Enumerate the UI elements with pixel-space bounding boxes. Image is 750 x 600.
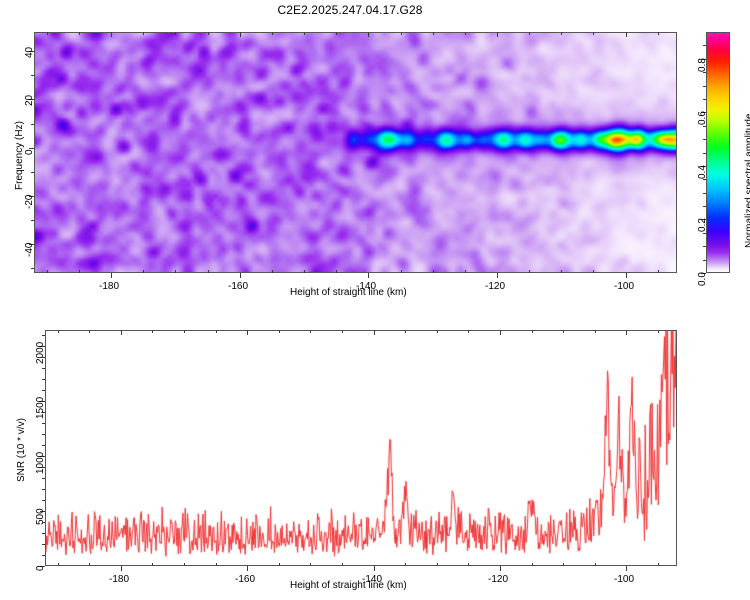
snr-x-tick-label: -180 <box>109 574 129 585</box>
axis-tick <box>31 124 34 125</box>
axis-tick <box>433 32 434 35</box>
axis-tick <box>626 32 627 37</box>
snr-canvas <box>46 331 676 565</box>
axis-tick <box>468 563 469 566</box>
axis-tick <box>703 260 706 261</box>
axis-tick <box>216 330 217 333</box>
snr-y-axis-label: SNR (10 * v/v) <box>16 418 27 482</box>
axis-tick <box>42 445 45 446</box>
snr-x-axis-label: Height of straight line (km) <box>290 580 407 591</box>
axis-tick <box>703 99 706 100</box>
axis-tick <box>42 555 45 556</box>
spectrogram-y-tick-label: 0 <box>24 149 35 155</box>
axis-tick <box>342 563 343 566</box>
axis-tick <box>208 32 209 35</box>
snr-x-tick-label: -120 <box>488 574 508 585</box>
axis-tick <box>529 270 530 273</box>
axis-tick <box>468 330 469 333</box>
axis-tick <box>42 357 45 358</box>
colorbar-gradient <box>707 33 729 272</box>
axis-tick <box>152 563 153 566</box>
axis-tick <box>595 563 596 566</box>
snr-plot-area <box>45 330 677 566</box>
axis-tick <box>121 566 122 571</box>
axis-tick <box>184 563 185 566</box>
spectrogram-x-axis-label: Height of straight line (km) <box>290 287 407 298</box>
axis-tick <box>42 412 45 413</box>
snr-y-tick-label: 1000 <box>35 452 46 474</box>
axis-tick <box>626 273 627 278</box>
snr-y-tick-label: 2000 <box>35 342 46 364</box>
axis-tick <box>247 566 248 571</box>
spectrogram-y-tick-label: 20 <box>24 95 35 106</box>
axis-tick <box>561 270 562 273</box>
axis-tick <box>595 330 596 333</box>
axis-tick <box>240 32 241 37</box>
spectrogram-x-tick-label: -100 <box>614 281 634 292</box>
axis-tick <box>310 563 311 566</box>
axis-tick <box>563 563 564 566</box>
axis-tick <box>152 330 153 333</box>
axis-tick <box>405 330 406 333</box>
spectrogram-plot-area <box>34 32 677 273</box>
axis-tick <box>31 75 34 76</box>
axis-tick <box>405 563 406 566</box>
axis-tick <box>497 273 498 278</box>
axis-tick <box>563 330 564 333</box>
snr-y-tick-label: 1500 <box>35 397 46 419</box>
axis-tick <box>342 330 343 333</box>
axis-tick <box>532 330 533 333</box>
axis-tick <box>703 153 706 154</box>
axis-tick <box>593 270 594 273</box>
axis-tick <box>175 270 176 273</box>
axis-tick <box>374 566 375 571</box>
axis-tick <box>42 379 45 380</box>
snr-x-tick-label: -100 <box>614 574 634 585</box>
figure-title: C2E2.2025.247.04.17.G28 <box>0 3 700 17</box>
spectrogram-y-tick-label: -40 <box>24 243 35 257</box>
snr-x-tick-label: -140 <box>362 574 382 585</box>
axis-tick <box>47 270 48 273</box>
axis-tick <box>247 330 248 335</box>
axis-tick <box>465 32 466 35</box>
axis-tick <box>401 32 402 35</box>
axis-tick <box>111 273 112 278</box>
axis-tick <box>532 563 533 566</box>
axis-tick <box>272 32 273 35</box>
axis-tick <box>658 330 659 333</box>
axis-tick <box>561 32 562 35</box>
axis-tick <box>216 563 217 566</box>
axis-tick <box>703 233 706 234</box>
axis-tick <box>58 330 59 333</box>
axis-tick <box>279 330 280 333</box>
axis-tick <box>304 32 305 35</box>
axis-tick <box>89 563 90 566</box>
axis-tick <box>374 330 375 335</box>
axis-tick <box>658 32 659 35</box>
colorbar-tick-label: 0.0 <box>697 272 708 286</box>
axis-tick <box>42 544 45 545</box>
axis-tick <box>304 270 305 273</box>
axis-tick <box>58 563 59 566</box>
axis-tick <box>500 566 501 571</box>
colorbar-tick-label: 0.2 <box>697 218 708 232</box>
figure-root: C2E2.2025.247.04.17.G28 Frequency (Hz) H… <box>0 0 750 600</box>
axis-tick <box>368 32 369 37</box>
axis-tick <box>401 270 402 273</box>
axis-tick <box>279 563 280 566</box>
axis-tick <box>465 270 466 273</box>
spectrogram-canvas <box>35 33 676 272</box>
axis-tick <box>703 72 706 73</box>
axis-tick <box>703 179 706 180</box>
axis-tick <box>42 390 45 391</box>
axis-tick <box>42 434 45 435</box>
colorbar-tick-label: 0.6 <box>697 111 708 125</box>
axis-tick <box>42 423 45 424</box>
spectrogram-x-tick-label: -120 <box>485 281 505 292</box>
axis-tick <box>437 563 438 566</box>
axis-tick <box>703 193 706 194</box>
colorbar-label: Normalized spectral amplitude <box>744 113 750 248</box>
axis-tick <box>272 270 273 273</box>
axis-tick <box>703 206 706 207</box>
axis-tick <box>79 270 80 273</box>
axis-tick <box>143 270 144 273</box>
axis-tick <box>437 330 438 333</box>
snr-x-tick-label: -160 <box>235 574 255 585</box>
axis-tick <box>626 330 627 335</box>
axis-tick <box>703 86 706 87</box>
axis-tick <box>121 330 122 335</box>
axis-tick <box>89 330 90 333</box>
axis-tick <box>500 330 501 335</box>
axis-tick <box>111 32 112 37</box>
spectrogram-x-tick-label: -160 <box>228 281 248 292</box>
axis-tick <box>42 489 45 490</box>
axis-tick <box>703 126 706 127</box>
axis-tick <box>42 335 45 336</box>
axis-tick <box>626 566 627 571</box>
spectrogram-x-tick-label: -180 <box>99 281 119 292</box>
axis-tick <box>31 220 34 221</box>
axis-tick <box>703 139 706 140</box>
axis-tick <box>42 522 45 523</box>
axis-tick <box>240 273 241 278</box>
colorbar <box>706 32 730 273</box>
spectrogram-y-axis-label: Frequency (Hz) <box>14 121 25 190</box>
axis-tick <box>47 32 48 35</box>
axis-tick <box>529 32 530 35</box>
axis-tick <box>336 270 337 273</box>
axis-tick <box>79 32 80 35</box>
axis-tick <box>31 172 34 173</box>
axis-tick <box>310 330 311 333</box>
axis-tick <box>497 32 498 37</box>
snr-y-tick-label: 0 <box>35 565 46 571</box>
spectrogram-y-tick-label: -20 <box>24 195 35 209</box>
spectrogram-y-tick-label: 40 <box>24 47 35 58</box>
axis-tick <box>42 368 45 369</box>
axis-tick <box>433 270 434 273</box>
axis-tick <box>175 32 176 35</box>
spectrogram-x-tick-label: -140 <box>356 281 376 292</box>
colorbar-tick-label: 0.8 <box>697 58 708 72</box>
axis-tick <box>42 500 45 501</box>
axis-tick <box>703 246 706 247</box>
axis-tick <box>368 273 369 278</box>
axis-tick <box>336 32 337 35</box>
axis-tick <box>658 270 659 273</box>
axis-tick <box>31 268 34 269</box>
axis-tick <box>143 32 144 35</box>
axis-tick <box>42 478 45 479</box>
axis-tick <box>593 32 594 35</box>
axis-tick <box>42 467 45 468</box>
axis-tick <box>208 270 209 273</box>
colorbar-tick-label: 0.4 <box>697 165 708 179</box>
axis-tick <box>658 563 659 566</box>
axis-tick <box>703 45 706 46</box>
axis-tick <box>184 330 185 333</box>
axis-tick <box>42 533 45 534</box>
